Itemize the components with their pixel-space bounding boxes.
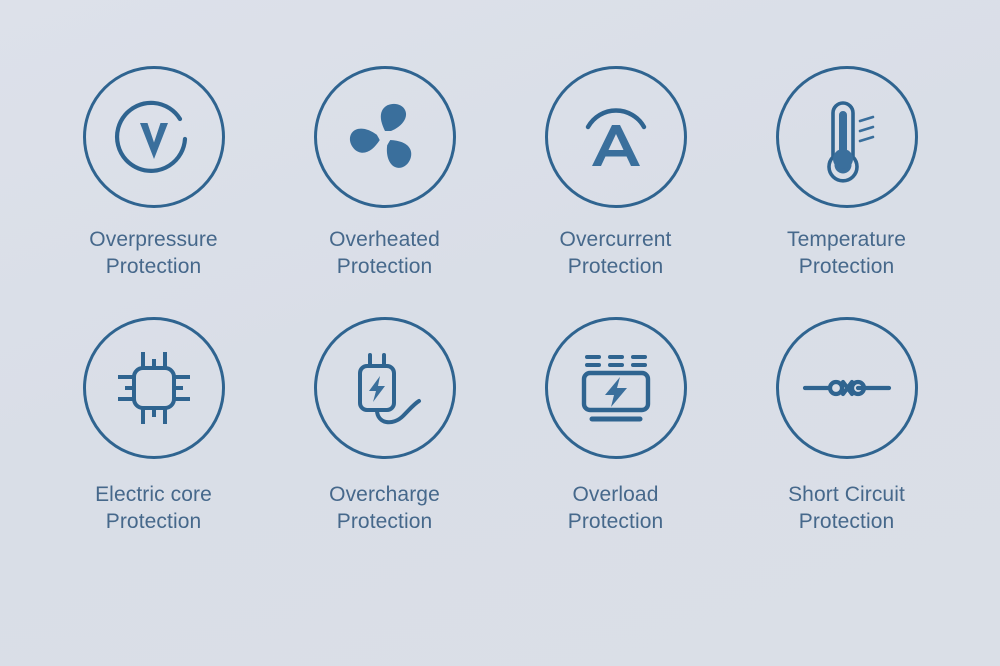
feature-label: Short Circuit Protection — [788, 481, 905, 535]
feature-label: Electric core Protection — [95, 481, 212, 535]
feature-item-overpressure[interactable]: Overpressure Protection — [38, 66, 269, 317]
feature-label: Overload Protection — [568, 481, 664, 535]
feature-label-line2: Protection — [568, 508, 664, 535]
feature-label-line2: Protection — [329, 253, 440, 280]
feature-icon-badge — [776, 317, 918, 459]
feature-item-temperature[interactable]: Temperature Protection — [731, 66, 962, 317]
feature-label-line2: Protection — [787, 253, 906, 280]
feature-label-line2: Protection — [560, 253, 672, 280]
broken-circuit-icon — [797, 338, 897, 438]
feature-label-line1: Overcurrent — [560, 228, 672, 251]
feature-item-overload[interactable]: Overload Protection — [500, 317, 731, 568]
battery-bolt-icon — [566, 338, 666, 438]
feature-label-line1: Overpressure — [89, 228, 217, 251]
feature-label-line1: Electric core — [95, 483, 212, 506]
feature-label-line1: Overload — [572, 483, 658, 506]
charger-plug-icon — [335, 338, 435, 438]
feature-label: Overcharge Protection — [329, 481, 440, 535]
chip-icon — [104, 338, 204, 438]
feature-label-line1: Short Circuit — [788, 483, 905, 506]
feature-label-line2: Protection — [788, 508, 905, 535]
feature-icon-badge — [83, 317, 225, 459]
feature-icon-badge — [83, 66, 225, 208]
feature-item-overcharge[interactable]: Overcharge Protection — [269, 317, 500, 568]
feature-label-line2: Protection — [89, 253, 217, 280]
thermometer-icon — [797, 87, 897, 187]
feature-item-overheated[interactable]: Overheated Protection — [269, 66, 500, 317]
feature-label-line1: Overcharge — [329, 483, 440, 506]
feature-icon-badge — [776, 66, 918, 208]
feature-label-line1: Overheated — [329, 228, 440, 251]
feature-label: Overpressure Protection — [89, 226, 217, 280]
feature-label-line1: Temperature — [787, 228, 906, 251]
feature-label-line2: Protection — [95, 508, 212, 535]
feature-icon-badge — [545, 317, 687, 459]
feature-label: Overheated Protection — [329, 226, 440, 280]
feature-label: Overcurrent Protection — [560, 226, 672, 280]
feature-label: Temperature Protection — [787, 226, 906, 280]
feature-label-line2: Protection — [329, 508, 440, 535]
feature-icon-badge — [545, 66, 687, 208]
feature-icon-badge — [314, 317, 456, 459]
voltage-circle-icon — [104, 87, 204, 187]
feature-item-electric-core[interactable]: Electric core Protection — [38, 317, 269, 568]
fan-icon — [335, 87, 435, 187]
feature-item-overcurrent[interactable]: Overcurrent Protection — [500, 66, 731, 317]
feature-item-short-circuit[interactable]: Short Circuit Protection — [731, 317, 962, 568]
feature-icon-badge — [314, 66, 456, 208]
ampere-gauge-icon — [566, 87, 666, 187]
protection-features-infographic: Overpressure Protection — [0, 0, 1000, 666]
feature-grid: Overpressure Protection — [0, 0, 1000, 666]
